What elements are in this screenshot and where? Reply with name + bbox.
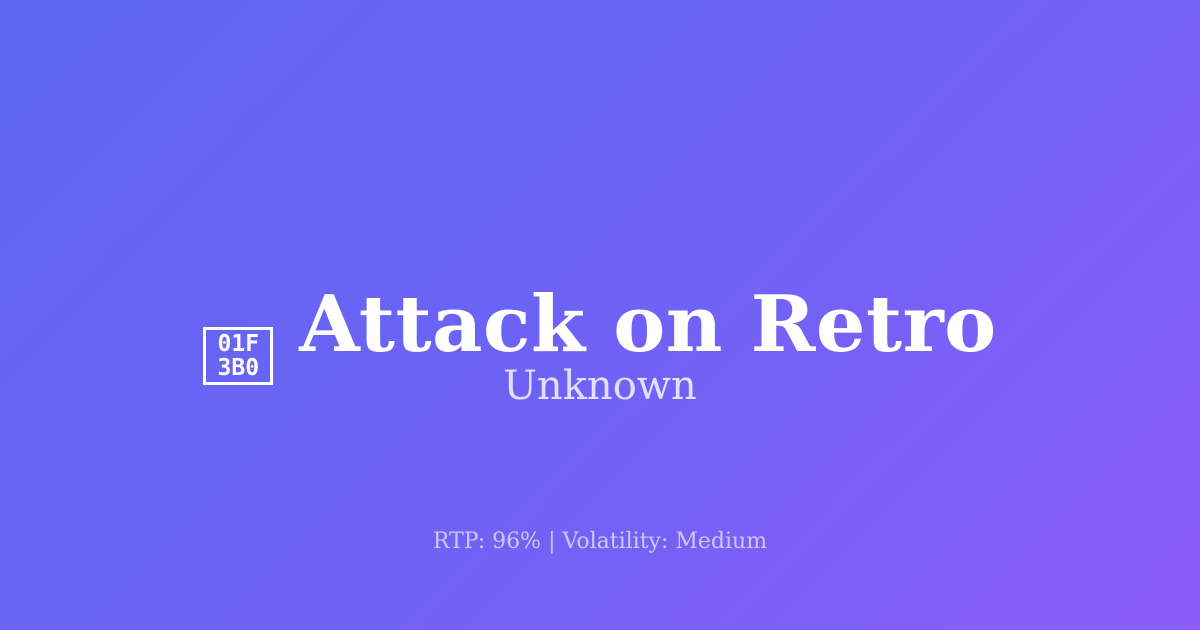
footer-meta: RTP: 96% | Volatility: Medium bbox=[0, 527, 1200, 557]
page-title: Attack on Retro bbox=[299, 284, 996, 366]
subtitle: Unknown bbox=[0, 362, 1200, 410]
tofu-codepoint-top: 01F bbox=[218, 332, 260, 356]
og-card: 01F 3B0 Attack on Retro Unknown RTP: 96%… bbox=[0, 0, 1200, 630]
